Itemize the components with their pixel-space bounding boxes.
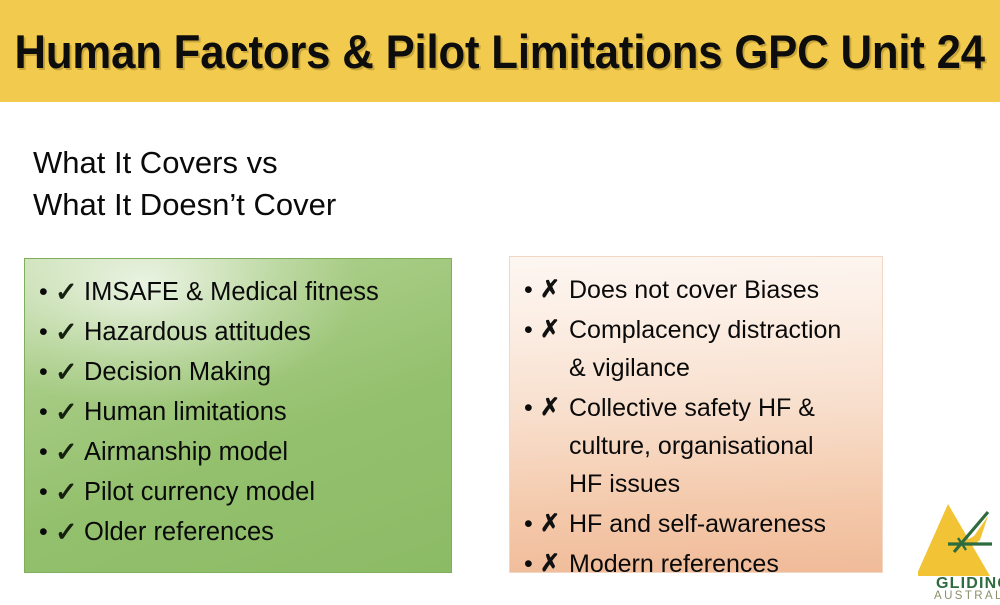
list-item: • ✗ Complacency distraction & vigilance [524,311,872,387]
list-item: • ✓ Older references [39,513,441,551]
bullet-icon: • [39,433,55,471]
bullet-icon: • [39,513,55,551]
list-item-label: Modern references [569,545,872,573]
bullet-icon: • [524,545,540,573]
bullet-icon: • [39,353,55,391]
bullet-icon: • [524,389,540,427]
bullet-icon: • [39,473,55,511]
covers-list: • ✓ IMSAFE & Medical fitness • ✓ Hazardo… [25,259,451,551]
list-item-label: HF and self-awareness [569,505,872,543]
check-icon: ✓ [55,513,84,551]
list-item: • ✓ Airmanship model [39,433,441,471]
not-covers-panel: • ✗ Does not cover Biases • ✗ Complacenc… [509,256,883,573]
list-item: • ✓ Pilot currency model [39,473,441,511]
list-item: • ✗ Collective safety HF & culture, orga… [524,389,872,503]
list-item: • ✓ Human limitations [39,393,441,431]
list-item-label: Airmanship model [84,433,441,471]
subtitle-heading: What It Covers vs What It Doesn’t Cover [33,142,336,226]
bullet-icon: • [39,273,55,311]
cross-icon: ✗ [540,505,569,543]
title-banner: Human Factors & Pilot Limitations GPC Un… [0,0,1000,102]
list-item: • ✓ Hazardous attitudes [39,313,441,351]
cross-icon: ✗ [540,389,569,427]
list-item-label: Collective safety HF & culture, organisa… [569,389,872,503]
check-icon: ✓ [55,433,84,471]
covers-panel: • ✓ IMSAFE & Medical fitness • ✓ Hazardo… [24,258,452,573]
gliding-australia-logo: GLIDING AUSTRALIA [918,498,1000,600]
check-icon: ✓ [55,393,84,431]
page-title: Human Factors & Pilot Limitations GPC Un… [15,28,985,75]
bullet-icon: • [524,271,540,309]
list-item: • ✗ Modern references [524,545,872,573]
check-icon: ✓ [55,473,84,511]
bullet-icon: • [39,313,55,351]
list-item-label: Human limitations [84,393,441,431]
logo-svg: GLIDING AUSTRALIA [918,498,1000,600]
logo-secondary-text: AUSTRALIA [934,590,1000,600]
bullet-icon: • [39,393,55,431]
check-icon: ✓ [55,273,84,311]
list-item-label: Hazardous attitudes [84,313,441,351]
list-item: • ✗ HF and self-awareness [524,505,872,543]
cross-icon: ✗ [540,545,569,573]
cross-icon: ✗ [540,271,569,309]
list-item-label: Does not cover Biases [569,271,872,309]
list-item-label: Decision Making [84,353,441,391]
list-item-label: IMSAFE & Medical fitness [84,273,441,311]
check-icon: ✓ [55,353,84,391]
list-item: • ✗ Does not cover Biases [524,271,872,309]
list-item: • ✓ Decision Making [39,353,441,391]
cross-icon: ✗ [540,311,569,349]
not-covers-list: • ✗ Does not cover Biases • ✗ Complacenc… [510,257,882,573]
list-item-label: Older references [84,513,441,551]
list-item-label: Complacency distraction & vigilance [569,311,872,387]
check-icon: ✓ [55,313,84,351]
bullet-icon: • [524,311,540,349]
bullet-icon: • [524,505,540,543]
list-item: • ✓ IMSAFE & Medical fitness [39,273,441,311]
list-item-label: Pilot currency model [84,473,441,511]
